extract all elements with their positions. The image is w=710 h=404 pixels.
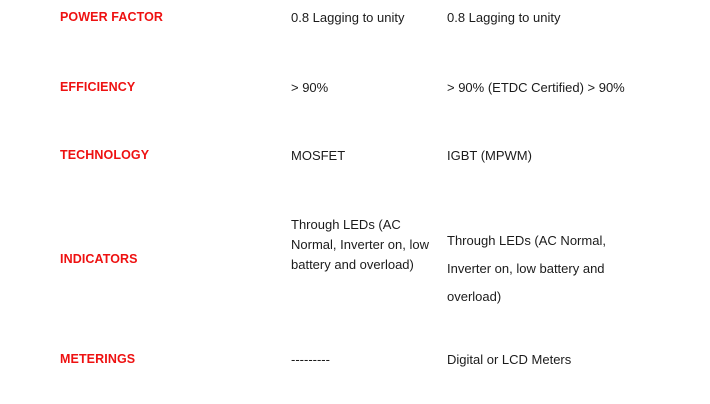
row-value-indicators-col3: Through LEDs (AC Normal, Inverter on, lo… xyxy=(447,227,643,311)
row-value-technology-col2: MOSFET xyxy=(291,148,441,163)
row-label-efficiency: EFFICIENCY xyxy=(60,80,280,95)
row-label-power-factor: POWER FACTOR xyxy=(60,10,280,25)
row-label-meterings: METERINGS xyxy=(60,352,280,367)
row-value-technology-col3: IGBT (MPWM) xyxy=(447,148,697,163)
row-value-indicators-col2: Through LEDs (AC Normal, Inverter on, lo… xyxy=(291,215,431,275)
row-value-efficiency-col2: > 90% xyxy=(291,80,441,95)
row-value-efficiency-col3: > 90% (ETDC Certified) > 90% xyxy=(447,80,707,95)
comparison-table-slide: POWER FACTOR 0.8 Lagging to unity 0.8 La… xyxy=(0,0,710,404)
row-label-indicators: INDICATORS xyxy=(60,252,280,267)
row-label-technology: TECHNOLOGY xyxy=(60,148,280,163)
row-value-meterings-col3: Digital or LCD Meters xyxy=(447,352,697,367)
row-value-meterings-col2: --------- xyxy=(291,352,441,367)
row-value-power-factor-col3: 0.8 Lagging to unity xyxy=(447,10,697,25)
row-value-power-factor-col2: 0.8 Lagging to unity xyxy=(291,10,441,25)
